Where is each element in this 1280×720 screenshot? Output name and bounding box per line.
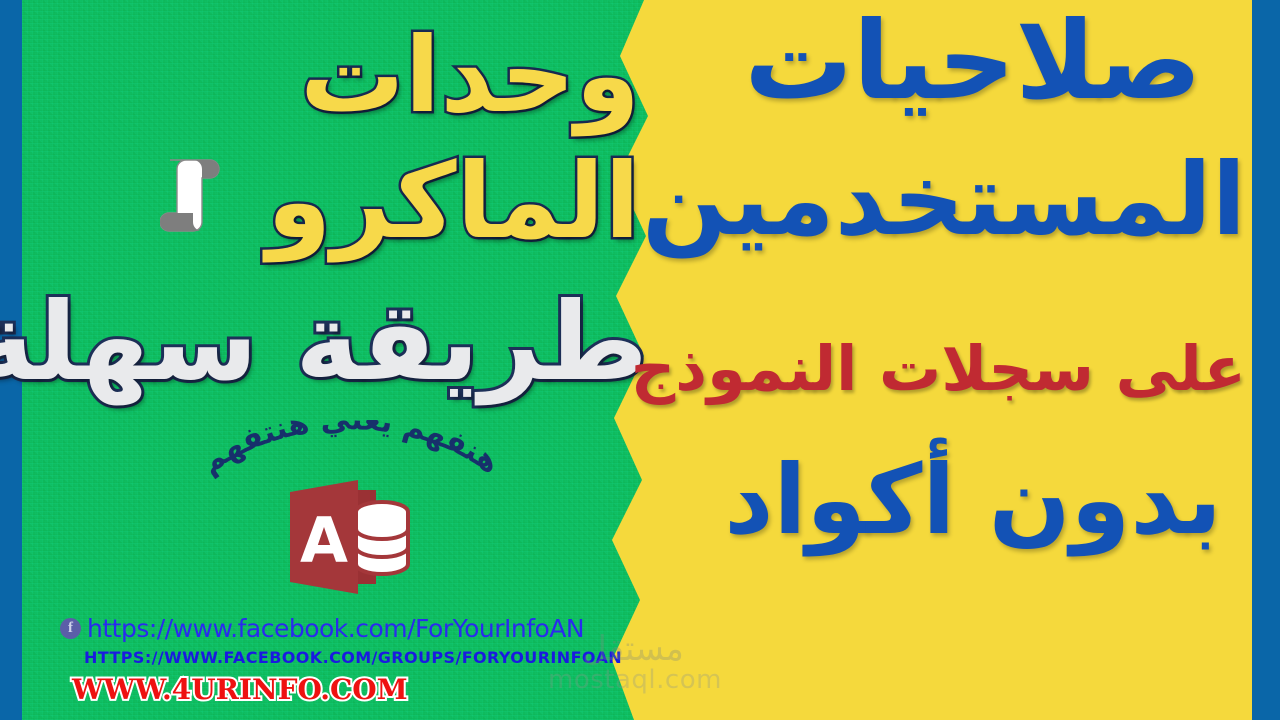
watermark-arabic: مستقل bbox=[548, 632, 718, 666]
facebook-group-url[interactable]: HTTPS://WWW.FACEBOOK.COM/GROUPS/FORYOURI… bbox=[84, 648, 622, 667]
mostaql-watermark: مستقل mostaql.com bbox=[548, 632, 718, 695]
facebook-page-url: https://www.facebook.com/ForYourInfoAN bbox=[87, 614, 584, 643]
headline-form-records: على سجلات النموذج bbox=[680, 338, 1246, 400]
headline-easy-way: طريقة سهلة bbox=[0, 288, 648, 398]
facebook-icon: f bbox=[60, 618, 81, 639]
headline-wahadat: وحدات bbox=[300, 22, 640, 128]
right-blue-border bbox=[1252, 0, 1280, 720]
ms-access-logo-icon: A bbox=[284, 478, 412, 596]
watermark-latin: mostaql.com bbox=[548, 666, 718, 695]
macro-scroll-icon bbox=[160, 152, 226, 236]
headline-no-code: بدون أكواد bbox=[700, 452, 1246, 548]
access-logo-letter: A bbox=[300, 504, 348, 577]
facebook-page-link[interactable]: f https://www.facebook.com/ForYourInfoAN bbox=[60, 614, 584, 643]
svg-text:هنفهم يعني هنتفهم: هنفهم يعني هنتفهم bbox=[194, 420, 506, 481]
curved-slogan-text: هنفهم يعني هنتفهم bbox=[194, 420, 506, 481]
site-url[interactable]: WWW.4URINFO.COM bbox=[72, 673, 408, 706]
thumbnail-canvas: وحدات الماكرو طريقة سهلة هنفهم يعني هنتف… bbox=[0, 0, 1280, 720]
headline-permissions: صلاحيات bbox=[700, 8, 1246, 116]
headline-macro: الماكرو bbox=[267, 148, 640, 254]
headline-users: المستخدمين bbox=[700, 150, 1246, 250]
